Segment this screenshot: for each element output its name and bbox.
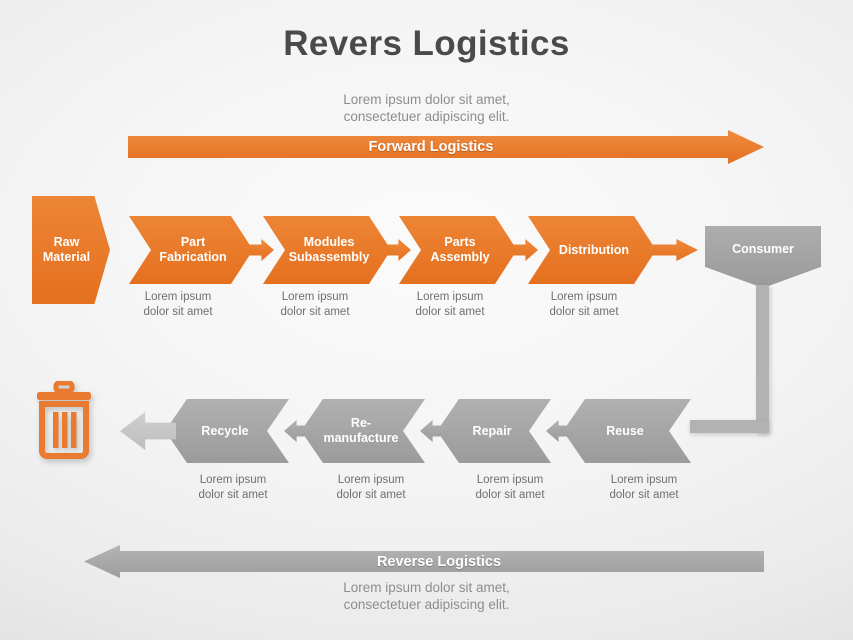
step-reuse[interactable]: Reuse xyxy=(563,399,691,463)
raw-material-node[interactable]: Raw Material xyxy=(32,196,110,304)
bottom-caption: Lorem ipsum dolor sit amet, consectetuer… xyxy=(0,579,853,613)
forward-logistics-banner: Forward Logistics xyxy=(128,130,764,164)
sublabel-repair: Lorem ipsum dolor sit amet xyxy=(440,473,580,503)
step-repair[interactable]: Repair xyxy=(437,399,551,463)
forward-arrow-to-consumer-icon xyxy=(650,239,698,261)
sublabel-parts-assembly: Lorem ipsum dolor sit amet xyxy=(380,290,520,320)
top-caption: Lorem ipsum dolor sit amet, consectetuer… xyxy=(0,91,853,125)
page-title: Revers Logistics xyxy=(0,24,853,64)
step-parts-assembly[interactable]: Parts Assembly xyxy=(399,216,517,284)
sublabel-modules-subassembly: Lorem ipsum dolor sit amet xyxy=(245,290,385,320)
sublabel-distribution: Lorem ipsum dolor sit amet xyxy=(514,290,654,320)
sublabel-recycle: Lorem ipsum dolor sit amet xyxy=(163,473,303,503)
consumer-node[interactable]: Consumer xyxy=(705,226,821,288)
trash-bin-icon xyxy=(36,381,92,461)
step-part-fabrication[interactable]: Part Fabrication xyxy=(129,216,253,284)
step-distribution[interactable]: Distribution xyxy=(528,216,656,284)
step-modules-subassembly[interactable]: Modules Subassembly xyxy=(263,216,391,284)
step-recycle[interactable]: Recycle xyxy=(165,399,289,463)
step-remanufacture[interactable]: Re- manufacture xyxy=(301,399,425,463)
diagram-canvas: Revers Logistics Lorem ipsum dolor sit a… xyxy=(0,0,853,640)
sublabel-remanufacture: Lorem ipsum dolor sit amet xyxy=(301,473,441,503)
recycle-to-trash-arrow-icon xyxy=(120,412,176,450)
sublabel-reuse: Lorem ipsum dolor sit amet xyxy=(574,473,714,503)
reverse-logistics-banner: Reverse Logistics xyxy=(84,545,764,578)
sublabel-part-fabrication: Lorem ipsum dolor sit amet xyxy=(108,290,248,320)
consumer-to-reuse-connector-vertical xyxy=(756,285,769,433)
consumer-to-reuse-connector-horizontal xyxy=(690,420,769,433)
